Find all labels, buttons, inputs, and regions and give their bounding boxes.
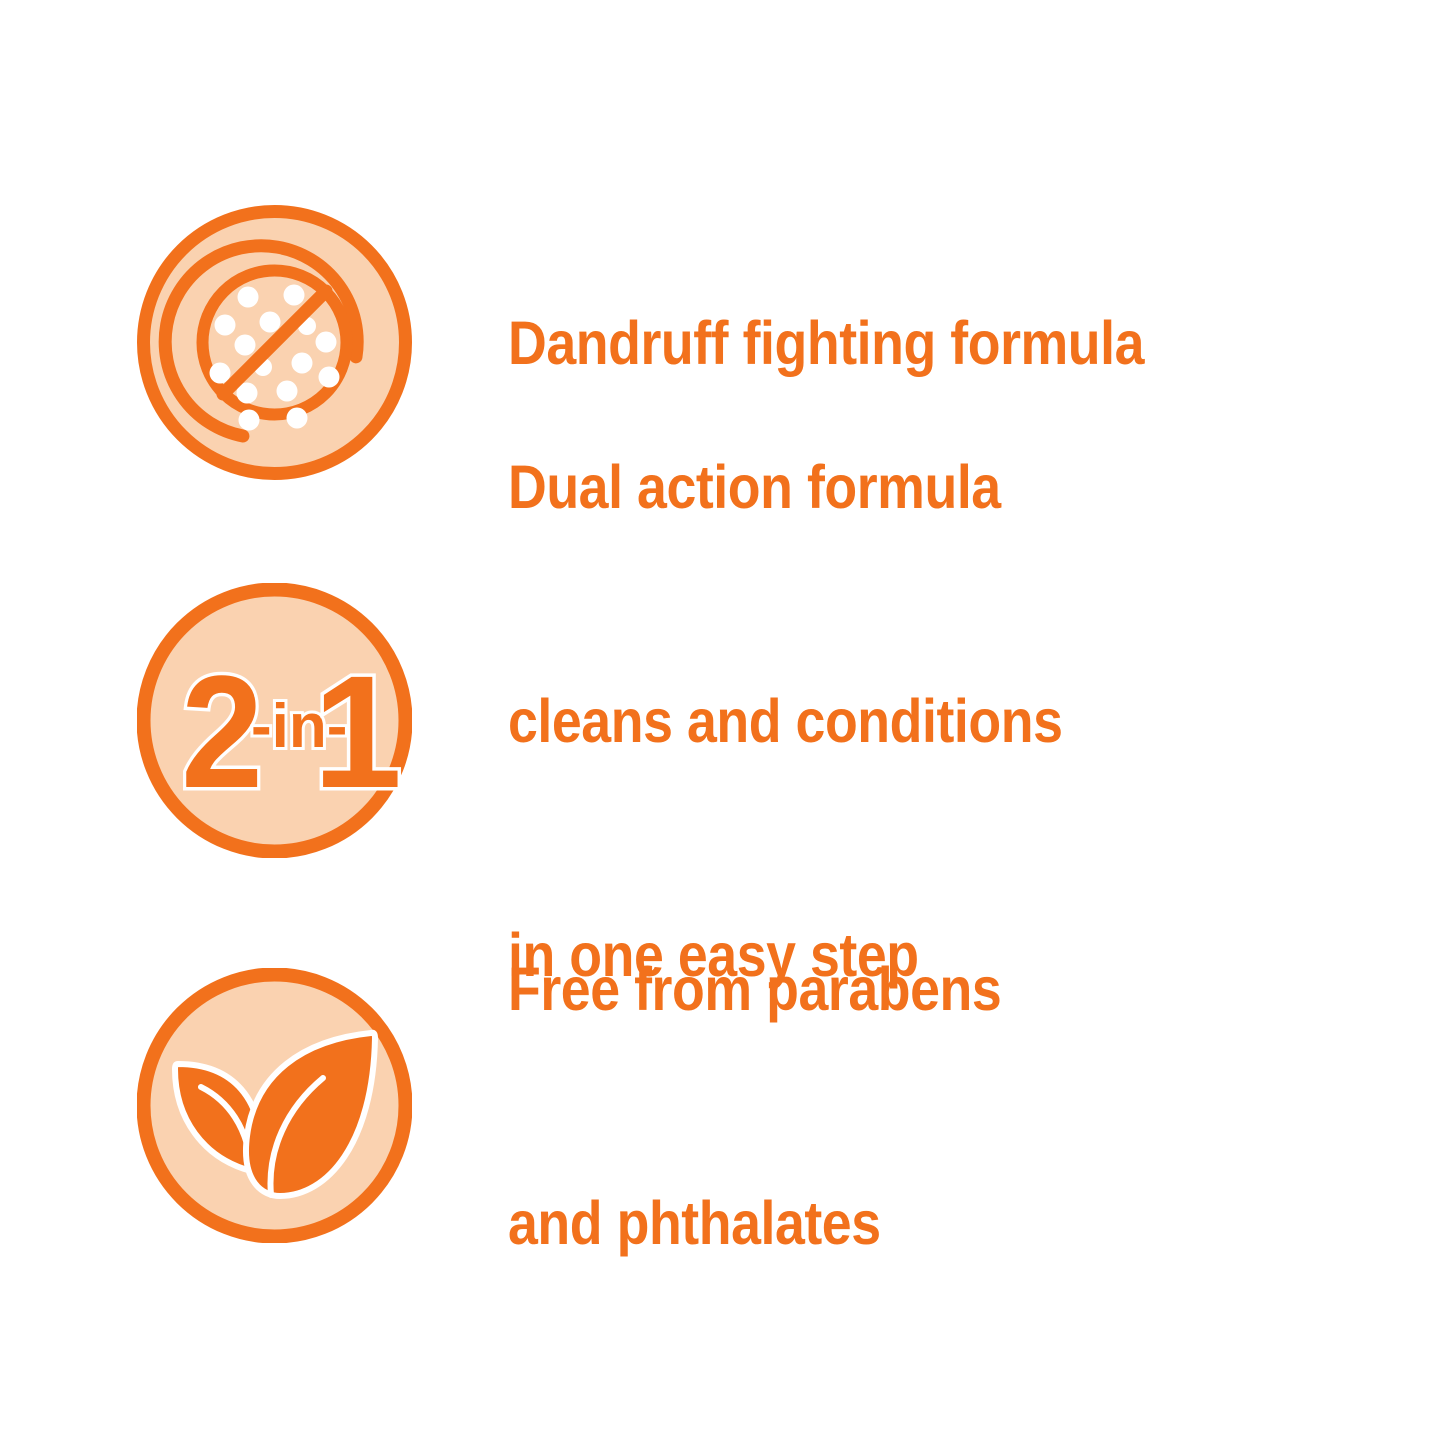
feature-line: Dual action formula [508, 448, 1063, 526]
two-in-one-icon: 2 -in- 1 [137, 583, 412, 858]
feature-text-free-from: Free from parabens and phthalates [508, 794, 1001, 1418]
two-in-one-numeral-second: 1 [313, 642, 402, 821]
feature-row-free-from: Free from parabens and phthalates [0, 968, 1445, 1243]
feature-line: and phthalates [508, 1184, 1001, 1262]
leaves-icon [137, 968, 412, 1243]
feature-line: cleans and conditions [508, 682, 1063, 760]
product-feature-infographic: Dandruff fighting formula 2 -in- 1 Dual … [0, 0, 1445, 1445]
feature-line: Free from parabens [508, 950, 1001, 1028]
no-dandruff-icon [137, 205, 412, 480]
